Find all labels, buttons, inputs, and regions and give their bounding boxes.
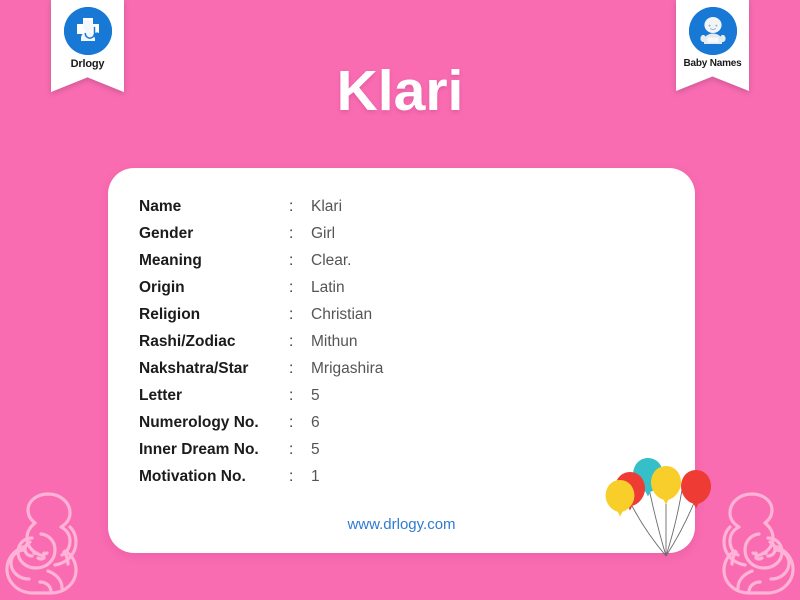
row-value: Christian — [311, 301, 383, 328]
table-row: Motivation No. : 1 — [139, 463, 383, 490]
name-details-table-body: Name : Klari Gender : Girl Meaning : Cle… — [139, 193, 383, 490]
row-label: Numerology No. — [139, 409, 289, 436]
mother-and-baby-icon — [0, 478, 106, 600]
row-separator: : — [289, 409, 311, 436]
row-label: Name — [139, 193, 289, 220]
row-separator: : — [289, 382, 311, 409]
row-separator: : — [289, 220, 311, 247]
row-value: 1 — [311, 463, 383, 490]
row-value: 5 — [311, 382, 383, 409]
name-details-card: Name : Klari Gender : Girl Meaning : Cle… — [108, 168, 695, 553]
row-separator: : — [289, 355, 311, 382]
row-value: Klari — [311, 193, 383, 220]
row-label: Origin — [139, 274, 289, 301]
website-link[interactable]: www.drlogy.com — [108, 516, 695, 533]
row-separator: : — [289, 301, 311, 328]
table-row: Religion : Christian — [139, 301, 383, 328]
row-label: Nakshatra/Star — [139, 355, 289, 382]
row-value: 5 — [311, 436, 383, 463]
row-label: Rashi/Zodiac — [139, 328, 289, 355]
page-title: Klari — [0, 63, 800, 120]
name-details-table: Name : Klari Gender : Girl Meaning : Cle… — [139, 193, 383, 490]
row-value: Mrigashira — [311, 355, 383, 382]
row-label: Meaning — [139, 247, 289, 274]
row-label: Inner Dream No. — [139, 436, 289, 463]
table-row: Numerology No. : 6 — [139, 409, 383, 436]
table-row: Rashi/Zodiac : Mithun — [139, 328, 383, 355]
mother-and-baby-icon — [694, 478, 800, 600]
row-label: Letter — [139, 382, 289, 409]
table-row: Gender : Girl — [139, 220, 383, 247]
row-separator: : — [289, 247, 311, 274]
table-row: Nakshatra/Star : Mrigashira — [139, 355, 383, 382]
table-row: Inner Dream No. : 5 — [139, 436, 383, 463]
row-separator: : — [289, 274, 311, 301]
table-row: Meaning : Clear. — [139, 247, 383, 274]
table-row: Letter : 5 — [139, 382, 383, 409]
row-separator: : — [289, 328, 311, 355]
table-row: Name : Klari — [139, 193, 383, 220]
row-value: Clear. — [311, 247, 383, 274]
row-separator: : — [289, 193, 311, 220]
baby-name-card-page: { "theme": { "background": "#f96cb2", "c… — [0, 0, 800, 600]
table-row: Origin : Latin — [139, 274, 383, 301]
baby-icon — [689, 7, 737, 55]
row-label: Motivation No. — [139, 463, 289, 490]
row-separator: : — [289, 436, 311, 463]
row-value: Mithun — [311, 328, 383, 355]
row-value: Latin — [311, 274, 383, 301]
row-separator: : — [289, 463, 311, 490]
row-value: Girl — [311, 220, 383, 247]
row-label: Religion — [139, 301, 289, 328]
doctor-stethoscope-icon — [64, 7, 112, 55]
balloons-icon — [604, 440, 716, 560]
row-label: Gender — [139, 220, 289, 247]
row-value: 6 — [311, 409, 383, 436]
